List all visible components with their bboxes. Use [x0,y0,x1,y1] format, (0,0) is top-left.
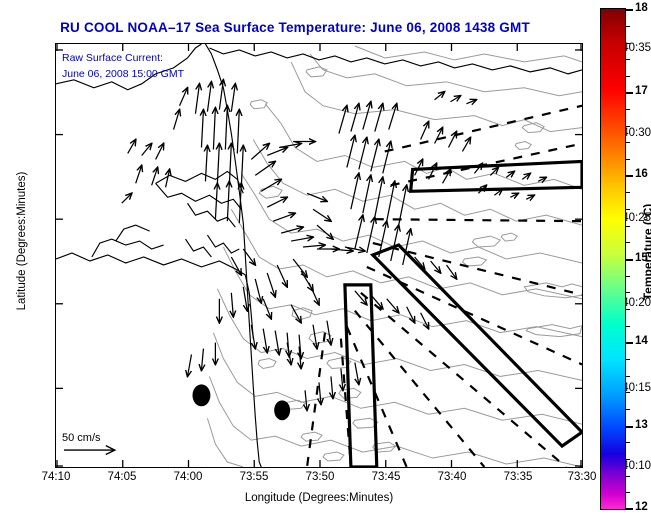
radar-station-markers [192,384,290,420]
coastline [56,44,582,467]
colorbar-tick-label: 12 [635,501,648,513]
scale-legend-label: 50 cm/s [62,432,101,444]
x-tick-label: 74:05 [92,471,152,483]
x-tick-label: 73:50 [290,471,350,483]
colorbar [600,8,626,510]
x-axis-title: Longitude (Degrees:Minutes) [55,492,583,504]
x-tick-label: 73:35 [488,471,548,483]
surface-current-vectors [122,80,546,410]
colorbar-tick-label: 18 [635,2,648,14]
annotation-line-1: Raw Surface Current: [62,52,163,64]
colorbar-gradient [600,8,626,510]
sst-map-figure: RU COOL NOAA–17 Sea Surface Temperature:… [0,0,651,519]
colorbar-tick-label: 13 [635,419,648,431]
map-plot-area [55,43,583,468]
x-tick-label: 73:45 [356,471,416,483]
radar-beam-outlines [345,161,582,467]
station-marker-west [192,384,210,406]
annotation-line-2: June 06, 2008 15:00 GMT [62,68,184,80]
scale-arrow [64,446,115,455]
x-tick-label: 74:00 [158,471,218,483]
colorbar-title: Temperature (°C) [641,167,651,337]
axis-tick-marks [56,44,582,467]
map-canvas [56,44,582,467]
y-axis-title: Latitude (Degrees:Minutes) [16,141,28,341]
station-marker-east [274,400,290,420]
x-tick-label: 73:55 [224,471,284,483]
figure-title: RU COOL NOAA–17 Sea Surface Temperature:… [0,20,590,35]
x-tick-label: 74:10 [26,471,86,483]
colorbar-tick-label: 17 [635,85,648,97]
x-tick-label: 73:40 [422,471,482,483]
